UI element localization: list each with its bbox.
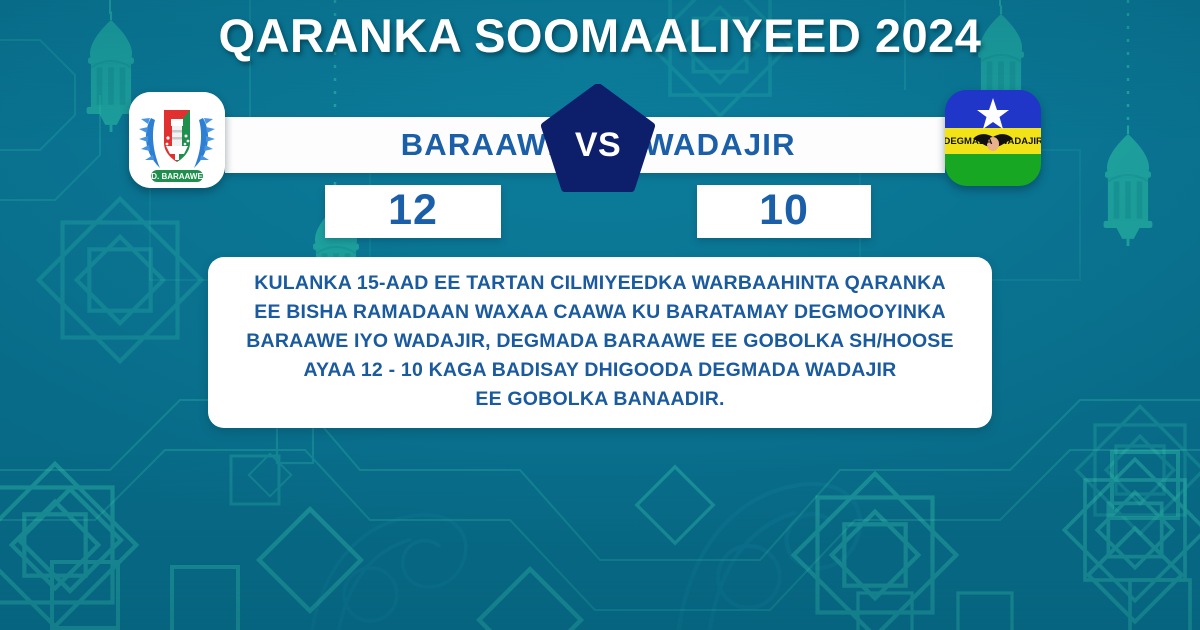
away-team-logo: DEGMADA WADAJIR — [945, 90, 1041, 186]
description-line: AYAA 12 - 10 KAGA BADISAY DHIGOODA DEGMA… — [304, 356, 897, 385]
match-description-panel: KULANKA 15-AAD EE TARTAN CILMIYEEDKA WAR… — [208, 257, 992, 428]
match-result-poster: QARANKA SOOMAALIYEED 2024 BARAAWE WADAJI… — [0, 0, 1200, 630]
vs-badge: VS — [541, 84, 655, 192]
away-logo-text-right: WADAJIR — [999, 136, 1041, 147]
baraawe-district-crest-icon: D. BARAAWE — [129, 92, 225, 188]
vs-label: VS — [541, 84, 655, 192]
home-team-logo: D. BARAAWE — [129, 92, 225, 188]
description-line: BARAAWE IYO WADAJIR, DEGMADA BARAAWE EE … — [246, 327, 953, 356]
wadajir-district-flag-icon: DEGMADA WADAJIR — [945, 90, 1041, 186]
home-score-box: 12 — [325, 185, 501, 238]
home-logo-caption: D. BARAAWE — [151, 172, 203, 181]
description-line: EE BISHA RAMADAAN WAXAA CAAWA KU BARATAM… — [254, 298, 946, 327]
description-line: EE GOBOLKA BANAADIR. — [475, 385, 724, 414]
away-score-value: 10 — [759, 189, 809, 234]
away-score-box: 10 — [697, 185, 871, 238]
description-line: KULANKA 15-AAD EE TARTAN CILMIYEEDKA WAR… — [254, 269, 946, 298]
page-title: QARANKA SOOMAALIYEED 2024 — [0, 8, 1200, 63]
home-score-value: 12 — [388, 189, 438, 234]
away-logo-text-left: DEGMADA — [945, 136, 993, 147]
